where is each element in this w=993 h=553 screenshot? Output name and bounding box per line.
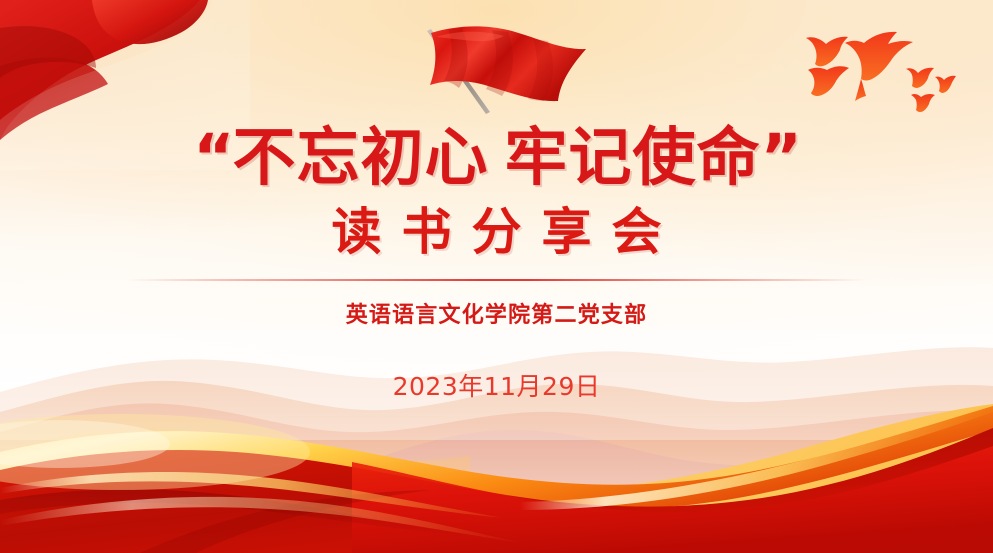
title-part-one: 不忘初心 — [233, 121, 489, 194]
organization-name: 英语语言文化学院第二党支部 — [0, 297, 993, 329]
title-part-two: 牢记使命 — [505, 121, 761, 194]
page-title: “不忘初心牢记使命” — [0, 126, 993, 189]
horizontal-divider — [127, 279, 867, 281]
open-quote-mark: “ — [193, 121, 232, 194]
close-quote-mark: ” — [761, 121, 800, 194]
poster-content: “不忘初心牢记使命” 读书分享会 英语语言文化学院第二党支部 2023年11月2… — [0, 0, 993, 403]
event-subtitle: 读书分享会 — [0, 207, 993, 257]
poster-canvas: “不忘初心牢记使命” 读书分享会 英语语言文化学院第二党支部 2023年11月2… — [0, 0, 993, 553]
event-date: 2023年11月29日 — [0, 367, 993, 403]
